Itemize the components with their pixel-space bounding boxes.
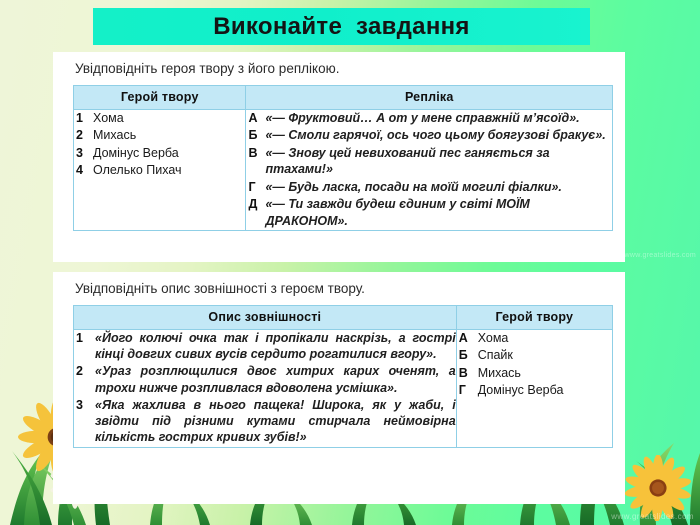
- table-one-header-replicas: Репліка: [246, 85, 613, 109]
- list-item[interactable]: Б «— Смоли гарячої, ось чого цьому боягу…: [246, 127, 612, 144]
- task-two-panel: Увідповідніть опис зовнішності з героєм …: [53, 272, 625, 504]
- list-item[interactable]: 2 «Ураз розплющилися двоє хитрих карих о…: [74, 363, 456, 396]
- item-key: В: [246, 145, 265, 162]
- table-row: 1 «Його колючі очка так і пропікали наск…: [74, 329, 613, 447]
- item-key: 1: [74, 330, 95, 347]
- item-label: Хома: [478, 330, 509, 346]
- item-label: «— Ти завжди будеш єдиним у світі МОЇМ Д…: [265, 196, 612, 229]
- item-key: В: [457, 365, 478, 382]
- table-one-header-row: Герой твору Репліка: [74, 85, 613, 109]
- task-two-table: Опис зовнішності Герой твору 1 «Його кол…: [73, 305, 613, 448]
- item-label: «— Смоли гарячої, ось чого цьому боягузо…: [265, 127, 605, 144]
- task-one-replicas-cell: А «— Фруктовий… А от у мене справжній м’…: [246, 109, 613, 231]
- item-key: Г: [457, 382, 478, 399]
- task-one-table: Герой твору Репліка 1 Хома 2 Михась 3: [73, 85, 613, 232]
- item-key: Б: [457, 347, 478, 364]
- item-key: 2: [74, 127, 93, 144]
- item-label: Олелько Пихач: [93, 162, 182, 179]
- watermark-mid-right: www.greatslides.com: [625, 252, 696, 259]
- task-one-panel: Увідповідніть героя твору з його репліко…: [53, 52, 625, 262]
- table-two-header-descriptions: Опис зовнішності: [74, 305, 457, 329]
- table-one-header-characters: Герой твору: [74, 85, 246, 109]
- task-two-descriptions-cell: 1 «Його колючі очка так і пропікали наск…: [74, 329, 457, 447]
- list-item[interactable]: А Хома: [457, 330, 612, 347]
- item-key: 4: [74, 162, 93, 179]
- item-key: 1: [74, 110, 93, 127]
- item-label: «— Знову цей невихований пес ганяється з…: [265, 145, 612, 178]
- item-key: А: [457, 330, 478, 347]
- task-one-instruction: Увідповідніть героя твору з його репліко…: [53, 52, 625, 85]
- item-label: Хома: [93, 110, 124, 127]
- item-key: 3: [74, 145, 93, 162]
- list-item[interactable]: Д «— Ти завжди будеш єдиним у світі МОЇМ…: [246, 196, 612, 229]
- list-item[interactable]: 3 «Яка жахлива в нього пащека! Широка, я…: [74, 397, 456, 446]
- slide-title-banner: Виконайте завдання: [93, 8, 590, 45]
- task-one-characters-cell: 1 Хома 2 Михась 3 Домінус Верба 4 Олельк…: [74, 109, 246, 231]
- item-key: Б: [246, 127, 265, 144]
- item-label: «— Фруктовий… А от у мене справжній м’яс…: [265, 110, 579, 127]
- list-item[interactable]: А «— Фруктовий… А от у мене справжній м’…: [246, 110, 612, 127]
- item-label: Михась: [478, 365, 521, 381]
- item-key: Г: [246, 179, 265, 196]
- table-row: 1 Хома 2 Михась 3 Домінус Верба 4 Олельк…: [74, 109, 613, 231]
- item-key: 2: [74, 363, 95, 380]
- item-label: Спайк: [478, 347, 513, 363]
- item-key: Д: [246, 196, 265, 213]
- list-item[interactable]: Б Спайк: [457, 347, 612, 364]
- item-label: Домінус Верба: [93, 145, 179, 162]
- table-two-header-row: Опис зовнішності Герой твору: [74, 305, 613, 329]
- item-key: А: [246, 110, 265, 127]
- list-item[interactable]: Г «— Будь ласка, посади на моїй могилі ф…: [246, 179, 612, 196]
- list-item[interactable]: 4 Олелько Пихач: [74, 162, 245, 179]
- list-item[interactable]: 2 Михась: [74, 127, 245, 144]
- list-item[interactable]: 3 Домінус Верба: [74, 145, 245, 162]
- item-label: «Його колючі очка так і пропікали наскрі…: [95, 330, 456, 363]
- list-item[interactable]: 1 «Його колючі очка так і пропікали наск…: [74, 330, 456, 363]
- list-item[interactable]: В Михась: [457, 365, 612, 382]
- item-key: 3: [74, 397, 95, 414]
- item-label: «Яка жахлива в нього пащека! Широка, як …: [95, 397, 456, 446]
- item-label: «— Будь ласка, посади на моїй могилі фіа…: [265, 179, 561, 196]
- task-two-characters-cell: А Хома Б Спайк В Михась Г Домінус Верба: [456, 329, 612, 447]
- item-label: «Ураз розплющилися двоє хитрих карих оче…: [95, 363, 456, 396]
- table-two-header-characters: Герой твору: [456, 305, 612, 329]
- list-item[interactable]: 1 Хома: [74, 110, 245, 127]
- item-label: Домінус Верба: [478, 382, 564, 398]
- task-two-instruction: Увідповідніть опис зовнішності з героєм …: [53, 272, 625, 305]
- list-item[interactable]: Г Домінус Верба: [457, 382, 612, 399]
- watermark-bottom-right: www.greatslides.com: [611, 512, 694, 521]
- item-label: Михась: [93, 127, 136, 144]
- list-item[interactable]: В «— Знову цей невихований пес ганяється…: [246, 145, 612, 178]
- page-title: Виконайте завдання: [213, 13, 469, 41]
